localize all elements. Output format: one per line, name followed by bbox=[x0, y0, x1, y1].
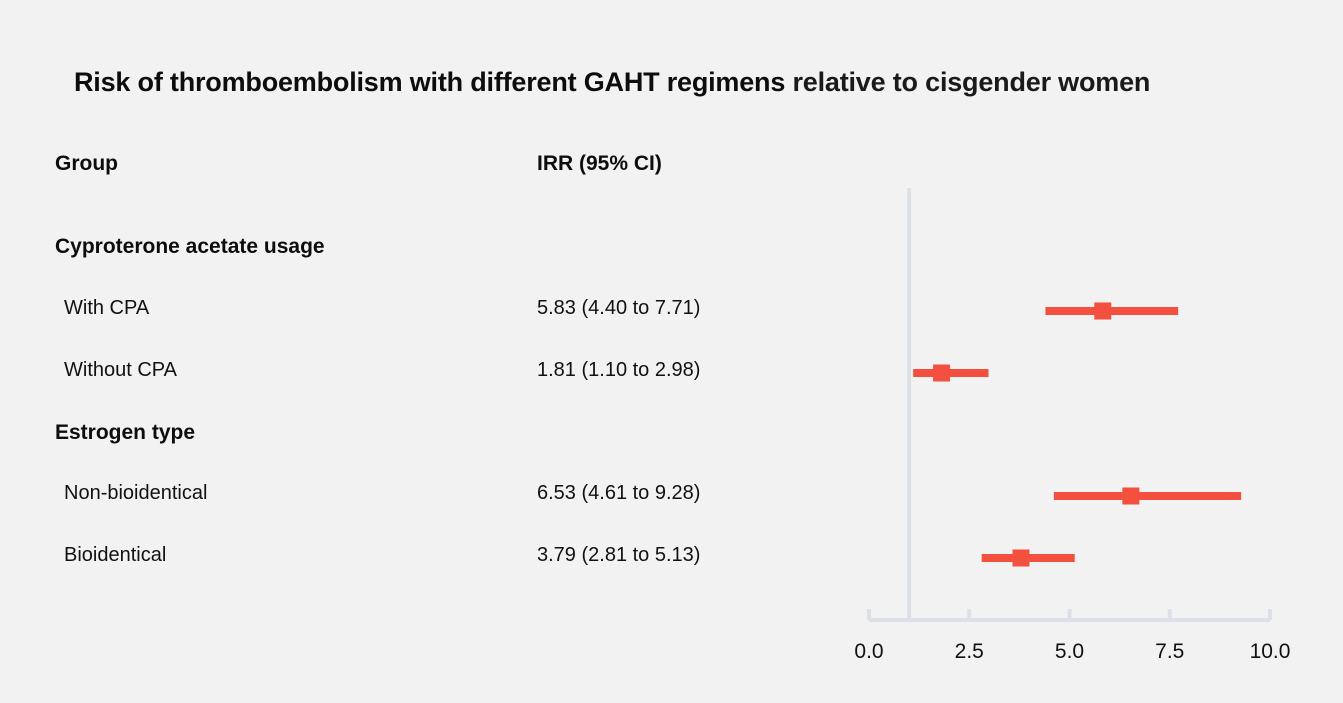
point-estimate-marker bbox=[1094, 303, 1111, 320]
table-row: Without CPA1.81 (1.10 to 2.98) bbox=[0, 359, 840, 389]
row-estimate-value: 5.83 (4.40 to 7.71) bbox=[537, 297, 700, 320]
row-label: Bioidentical bbox=[64, 544, 166, 567]
subgroup-label: Cyproterone acetate usage bbox=[55, 235, 325, 259]
confidence-interval-row bbox=[1045, 303, 1178, 320]
table-row: Bioidentical3.79 (2.81 to 5.13) bbox=[0, 544, 840, 574]
x-axis-tick-label: 5.0 bbox=[1055, 640, 1084, 664]
table-row: With CPA5.83 (4.40 to 7.71) bbox=[0, 297, 840, 327]
confidence-interval-row bbox=[1054, 488, 1241, 505]
x-axis bbox=[869, 609, 1270, 620]
subgroup-label: Estrogen type bbox=[55, 421, 195, 445]
column-header-group: Group bbox=[55, 152, 118, 176]
forest-plot-table: Group IRR (95% CI) Cyproterone acetate u… bbox=[0, 0, 840, 703]
subgroup-header-row: Cyproterone acetate usage bbox=[0, 235, 840, 265]
point-estimate-marker bbox=[1122, 488, 1139, 505]
x-axis-tick-label: 2.5 bbox=[955, 640, 984, 664]
confidence-interval-row bbox=[913, 365, 988, 382]
table-row: Non-bioidentical6.53 (4.61 to 9.28) bbox=[0, 482, 840, 512]
point-estimate-marker bbox=[933, 365, 950, 382]
x-axis-tick-label: 0.0 bbox=[854, 640, 883, 664]
x-axis-tick-label: 10.0 bbox=[1250, 640, 1291, 664]
column-header-estimate: IRR (95% CI) bbox=[537, 152, 662, 176]
row-estimate-value: 3.79 (2.81 to 5.13) bbox=[537, 544, 700, 567]
subgroup-header-row: Estrogen type bbox=[0, 421, 840, 451]
confidence-interval-group bbox=[913, 303, 1241, 567]
confidence-interval-row bbox=[982, 550, 1075, 567]
row-label: Without CPA bbox=[64, 359, 177, 382]
row-label: Non-bioidentical bbox=[64, 482, 207, 505]
row-estimate-value: 6.53 (4.61 to 9.28) bbox=[537, 482, 700, 505]
row-estimate-value: 1.81 (1.10 to 2.98) bbox=[537, 359, 700, 382]
point-estimate-marker bbox=[1012, 550, 1029, 567]
row-label: With CPA bbox=[64, 297, 149, 320]
x-axis-tick-label: 7.5 bbox=[1155, 640, 1184, 664]
